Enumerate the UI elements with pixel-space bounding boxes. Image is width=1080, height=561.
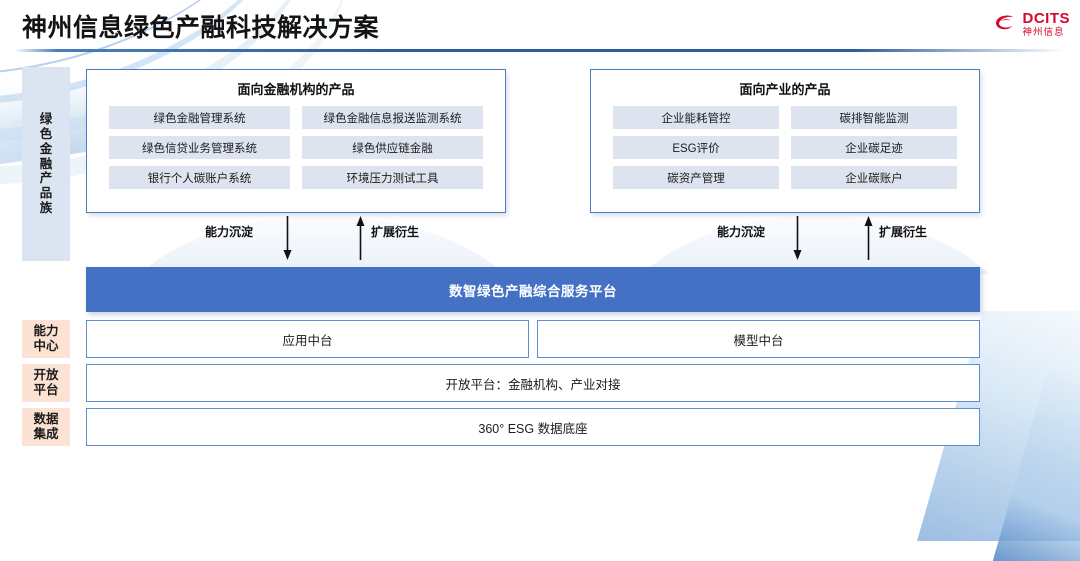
flow-label-capability-precipitation-left: 能力沉淀 xyxy=(205,223,253,240)
brand-logo: DCITS 神州信息 xyxy=(992,6,1071,42)
panel-industry-products: 面向产业的产品 企业能耗管控 碳排智能监测 ESG评价 企业碳足迹 碳资产管理 … xyxy=(590,69,980,213)
flow-arc-left xyxy=(112,216,532,274)
panel-industry-products-chip-grid: 企业能耗管控 碳排智能监测 ESG评价 企业碳足迹 碳资产管理 企业碳账户 xyxy=(591,106,979,189)
product-chip[interactable]: 企业能耗管控 xyxy=(613,106,779,129)
rail-label-data-integration: 数据集成 xyxy=(22,408,70,446)
product-chip[interactable]: ESG评价 xyxy=(613,136,779,159)
rail-label-data-integration-text: 数据集成 xyxy=(33,412,59,442)
dcits-swoosh-icon xyxy=(992,11,1018,37)
product-chip[interactable]: 绿色金融管理系统 xyxy=(109,106,290,129)
page-title: 神州信息绿色产融科技解决方案 xyxy=(22,8,379,44)
product-chip[interactable]: 绿色金融信息报送监测系统 xyxy=(302,106,483,129)
platform-bar[interactable]: 数智绿色产融综合服务平台 xyxy=(86,267,980,312)
flow-label-extension-derivation-right: 扩展衍生 xyxy=(879,223,927,240)
rail-label-product-family: 绿色金融产品族 xyxy=(22,67,70,261)
arrow-up-icon xyxy=(864,216,873,260)
rail-label-open-platform-text: 开放平台 xyxy=(33,368,59,398)
header-divider xyxy=(14,49,1066,52)
open-platform-box[interactable]: 开放平台：金融机构、产业对接 xyxy=(86,364,980,402)
capability-box-application-middle-platform[interactable]: 应用中台 xyxy=(86,320,529,358)
product-chip[interactable]: 碳排智能监测 xyxy=(791,106,957,129)
rail-label-capability-center-text: 能力中心 xyxy=(33,324,59,354)
product-chip[interactable]: 环境压力测试工具 xyxy=(302,166,483,189)
product-chip[interactable]: 企业碳足迹 xyxy=(791,136,957,159)
flow-label-extension-derivation-left: 扩展衍生 xyxy=(371,223,419,240)
arrow-down-icon xyxy=(283,216,292,260)
logo-text-en: DCITS xyxy=(1023,11,1071,26)
page-header: 神州信息绿色产融科技解决方案 DCITS 神州信息 xyxy=(0,0,1080,52)
rail-label-open-platform: 开放平台 xyxy=(22,364,70,402)
platform-bar-label: 数智绿色产融综合服务平台 xyxy=(449,280,617,300)
panel-industry-products-title: 面向产业的产品 xyxy=(591,79,979,98)
data-base-box[interactable]: 360° ESG 数据底座 xyxy=(86,408,980,446)
flow-label-capability-precipitation-right: 能力沉淀 xyxy=(717,223,765,240)
product-chip[interactable]: 绿色信贷业务管理系统 xyxy=(109,136,290,159)
product-chip[interactable]: 银行个人碳账户系统 xyxy=(109,166,290,189)
rail-label-capability-center: 能力中心 xyxy=(22,320,70,358)
panel-financial-products-chip-grid: 绿色金融管理系统 绿色金融信息报送监测系统 绿色信贷业务管理系统 绿色供应链金融… xyxy=(87,106,505,189)
product-chip[interactable]: 企业碳账户 xyxy=(791,166,957,189)
decorative-streak-bottom-right-2 xyxy=(993,371,1080,561)
logo-text-cn: 神州信息 xyxy=(1023,28,1071,38)
arrow-down-icon xyxy=(793,216,802,260)
panel-financial-products: 面向金融机构的产品 绿色金融管理系统 绿色金融信息报送监测系统 绿色信贷业务管理… xyxy=(86,69,506,213)
rail-label-product-family-text: 绿色金融产品族 xyxy=(35,112,57,215)
capability-box-model-middle-platform[interactable]: 模型中台 xyxy=(537,320,980,358)
flow-arc-right xyxy=(616,216,1016,274)
product-chip[interactable]: 绿色供应链金融 xyxy=(302,136,483,159)
arrow-up-icon xyxy=(356,216,365,260)
product-chip[interactable]: 碳资产管理 xyxy=(613,166,779,189)
panel-financial-products-title: 面向金融机构的产品 xyxy=(87,79,505,98)
